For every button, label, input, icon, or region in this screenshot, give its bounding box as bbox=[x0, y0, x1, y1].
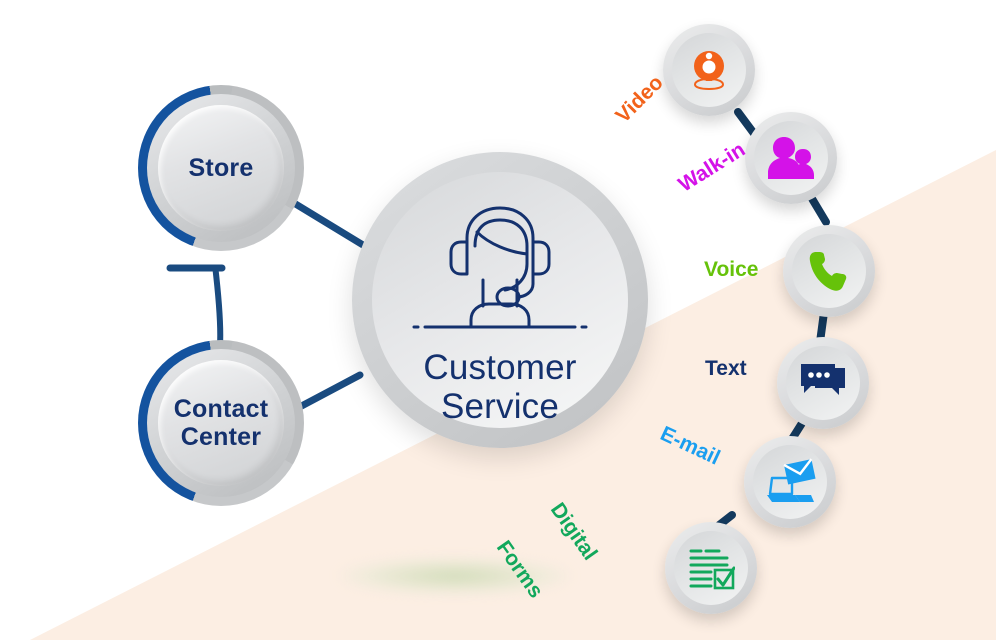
channel-voice-face bbox=[792, 234, 866, 308]
store-face: Store bbox=[158, 105, 284, 231]
webcam-icon bbox=[685, 46, 733, 94]
node-store-label: Store bbox=[189, 154, 254, 182]
chat-bubbles-icon bbox=[799, 362, 847, 404]
channel-video[interactable] bbox=[663, 24, 755, 116]
channel-walk-in[interactable] bbox=[745, 112, 837, 204]
phone-handset-icon bbox=[806, 248, 852, 294]
node-store[interactable]: Store bbox=[138, 85, 304, 251]
channel-digital-forms[interactable] bbox=[665, 522, 757, 614]
form-checkbox-icon bbox=[687, 545, 735, 591]
channel-walk-in-face bbox=[754, 121, 828, 195]
channel-voice[interactable] bbox=[783, 225, 875, 317]
center-node-label: Customer Service bbox=[423, 348, 576, 426]
center-node-face: Customer Service bbox=[372, 172, 628, 428]
center-node-label-line2: Service bbox=[423, 387, 576, 426]
channel-digital-forms-label-line1: Digital bbox=[546, 499, 601, 564]
channel-video-face bbox=[672, 33, 746, 107]
laptop-envelope-icon bbox=[764, 458, 816, 506]
node-contact-center-label-line1: Contact bbox=[174, 395, 268, 423]
node-contact-center[interactable]: Contact Center bbox=[138, 340, 304, 506]
channel-text[interactable] bbox=[777, 337, 869, 429]
people-icon bbox=[766, 135, 816, 181]
channel-email-face bbox=[753, 445, 827, 519]
center-node-customer-service[interactable]: Customer Service bbox=[352, 152, 648, 448]
headset-agent-icon bbox=[405, 196, 595, 346]
channel-email[interactable] bbox=[744, 436, 836, 528]
channel-text-label: Text bbox=[705, 358, 747, 380]
channel-digital-forms-label-line2: Forms bbox=[492, 537, 547, 602]
contact-center-face: Contact Center bbox=[158, 360, 284, 486]
channel-digital-forms-face bbox=[674, 531, 748, 605]
center-node-label-line1: Customer bbox=[423, 348, 576, 387]
channel-voice-label: Voice bbox=[704, 259, 758, 281]
diagram-canvas: Store Contact Center bbox=[0, 0, 996, 640]
channel-text-face bbox=[786, 346, 860, 420]
node-contact-center-label-line2: Center bbox=[181, 423, 261, 451]
